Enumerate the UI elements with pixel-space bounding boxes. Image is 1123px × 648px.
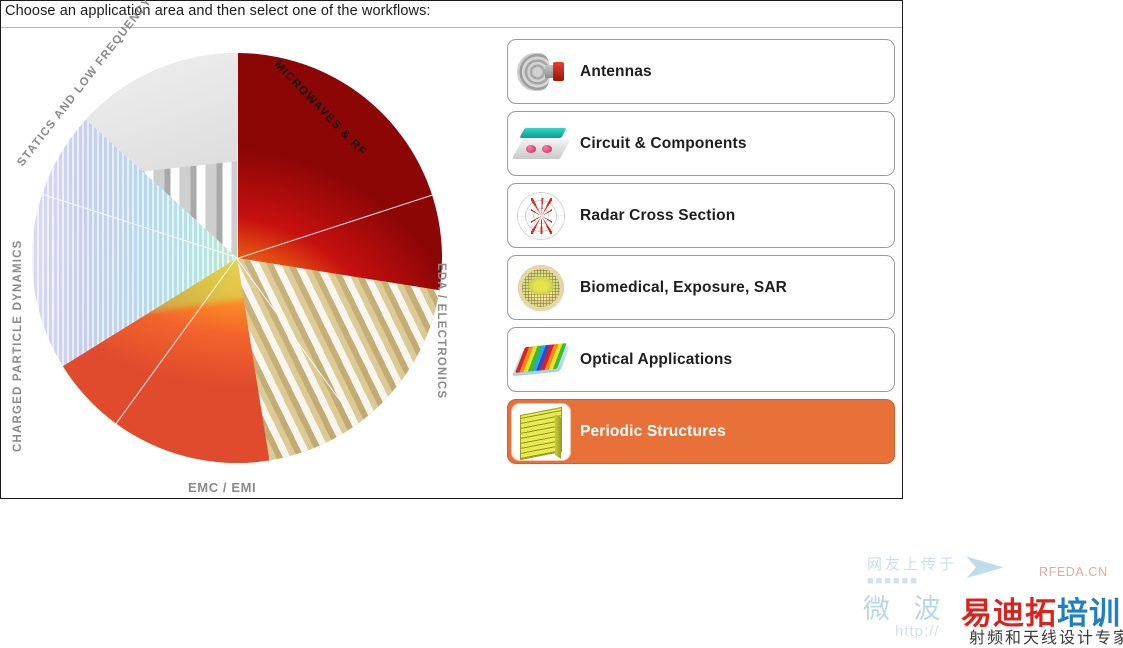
watermark-site: RFEDA.CN: [1039, 565, 1108, 579]
radar-polar-plot-icon: [512, 188, 570, 244]
workflow-item-label: Biomedical, Exposure, SAR: [580, 279, 787, 297]
antenna-horn-icon: [512, 44, 570, 100]
workflow-item-label: Optical Applications: [580, 351, 732, 369]
application-area-wheel[interactable]: Statics and Low Frequency Microwaves & R…: [4, 29, 474, 499]
optical-slab-icon: [512, 332, 570, 388]
watermark-blocks: ■■■■■■: [867, 575, 919, 587]
circuit-board-icon: [512, 116, 570, 172]
workflow-item-label: Circuit & Components: [580, 135, 747, 153]
wheel-divider: [237, 53, 238, 258]
workflow-item-label: Radar Cross Section: [580, 207, 735, 225]
periodic-array-icon: [512, 404, 570, 460]
workflow-item-label: Periodic Structures: [580, 423, 726, 441]
watermark-url: http://: [895, 623, 940, 640]
workflow-item-antennas[interactable]: Antennas: [507, 39, 895, 104]
watermark-top-text: 网友上传于: [867, 553, 957, 574]
bird-icon: ➤: [960, 547, 1006, 587]
watermark: 网友上传于 ■■■■■■ ➤ RFEDA.CN 微 波 E http:// 易迪…: [861, 545, 1123, 645]
workflow-chooser-panel: Choose an application area and then sele…: [0, 0, 903, 499]
workflow-item-label: Antennas: [580, 63, 652, 81]
instruction-text: Choose an application area and then sele…: [5, 3, 431, 19]
wheel-graphic: [32, 53, 442, 463]
workflow-item-biomedical-exposure-sar[interactable]: Biomedical, Exposure, SAR: [507, 255, 895, 320]
wheel-label-charged-particle[interactable]: Charged Particle Dynamics: [12, 239, 24, 452]
biomedical-sar-icon: [512, 260, 570, 316]
workflow-item-radar-cross-section[interactable]: Radar Cross Section: [507, 183, 895, 248]
workflow-list: Antennas Circuit & Components Radar Cros…: [507, 39, 895, 471]
workflow-item-circuit-components[interactable]: Circuit & Components: [507, 111, 895, 176]
workflow-item-periodic-structures[interactable]: Periodic Structures: [507, 399, 895, 464]
workflow-item-optical-applications[interactable]: Optical Applications: [507, 327, 895, 392]
wheel-label-eda[interactable]: EDA / Electronics: [435, 263, 447, 399]
watermark-slogan: 射频和天线设计专家: [969, 624, 1123, 648]
wheel-label-emc[interactable]: EMC / EMI: [188, 480, 256, 495]
